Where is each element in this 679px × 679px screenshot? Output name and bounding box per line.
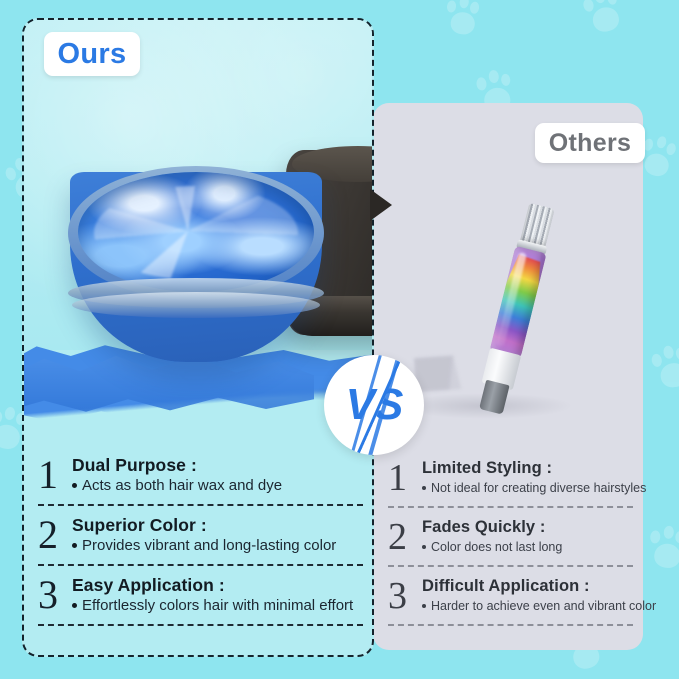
feature-number: 3 <box>388 576 418 616</box>
feature-detail: Not ideal for creating diverse hairstyle… <box>431 481 646 495</box>
feature-detail-wrap: Effortlessly colors hair with minimal ef… <box>72 596 363 615</box>
bullet-icon <box>72 603 77 608</box>
panel-edge-arrow-icon <box>370 189 392 221</box>
feature-title: Limited Styling : <box>422 458 646 478</box>
feature-number: 3 <box>38 575 68 615</box>
ours-badge: Ours <box>44 32 140 76</box>
ours-feature-list: 1 Dual Purpose : Acts as both hair wax a… <box>38 455 363 635</box>
feature-row: 3 Easy Application : Effortlessly colors… <box>38 575 363 626</box>
feature-number: 2 <box>388 517 418 557</box>
feature-detail-wrap: Provides vibrant and long-lasting color <box>72 536 363 555</box>
comparison-infographic: Ours Others VS 1 Dual Purpose : Acts as … <box>0 0 679 679</box>
others-badge-label: Others <box>549 129 631 158</box>
jar-thread-ring-lower <box>72 292 320 318</box>
feature-title: Easy Application : <box>72 575 363 595</box>
feature-detail: Harder to achieve even and vibrant color <box>431 599 656 613</box>
feature-title: Dual Purpose : <box>72 455 363 475</box>
feature-title: Difficult Application : <box>422 576 656 596</box>
feature-title: Superior Color : <box>72 515 363 535</box>
feature-detail: Color does not last long <box>431 540 562 554</box>
vs-badge: VS <box>324 355 424 455</box>
others-feature-list: 1 Limited Styling : Not ideal for creati… <box>388 458 633 635</box>
feature-detail-wrap: Acts as both hair wax and dye <box>72 476 363 495</box>
feature-detail-wrap: Harder to achieve even and vibrant color <box>422 597 656 616</box>
feature-detail-wrap: Color does not last long <box>422 538 633 557</box>
feature-row: 1 Dual Purpose : Acts as both hair wax a… <box>38 455 363 506</box>
feature-row: 2 Superior Color : Provides vibrant and … <box>38 515 363 566</box>
others-badge: Others <box>535 123 645 163</box>
feature-detail: Provides vibrant and long-lasting color <box>82 537 336 554</box>
feature-row: 1 Limited Styling : Not ideal for creati… <box>388 458 633 508</box>
feature-number: 2 <box>38 515 68 555</box>
ours-badge-label: Ours <box>58 38 127 71</box>
feature-number: 1 <box>388 458 418 498</box>
bullet-icon <box>422 486 426 490</box>
bullet-icon <box>72 483 77 488</box>
feature-detail: Effortlessly colors hair with minimal ef… <box>82 597 353 614</box>
bullet-icon <box>422 545 426 549</box>
feature-title: Fades Quickly : <box>422 517 633 537</box>
wax-swirl-highlight <box>94 186 298 280</box>
bullet-icon <box>422 604 426 608</box>
feature-detail-wrap: Not ideal for creating diverse hairstyle… <box>422 479 646 498</box>
feature-detail: Acts as both hair wax and dye <box>82 477 282 494</box>
bullet-icon <box>72 543 77 548</box>
feature-number: 1 <box>38 455 68 495</box>
feature-row: 2 Fades Quickly : Color does not last lo… <box>388 517 633 567</box>
feature-row: 3 Difficult Application : Harder to achi… <box>388 576 633 626</box>
rainbow-hair-chalk-pen-icon <box>478 202 559 402</box>
